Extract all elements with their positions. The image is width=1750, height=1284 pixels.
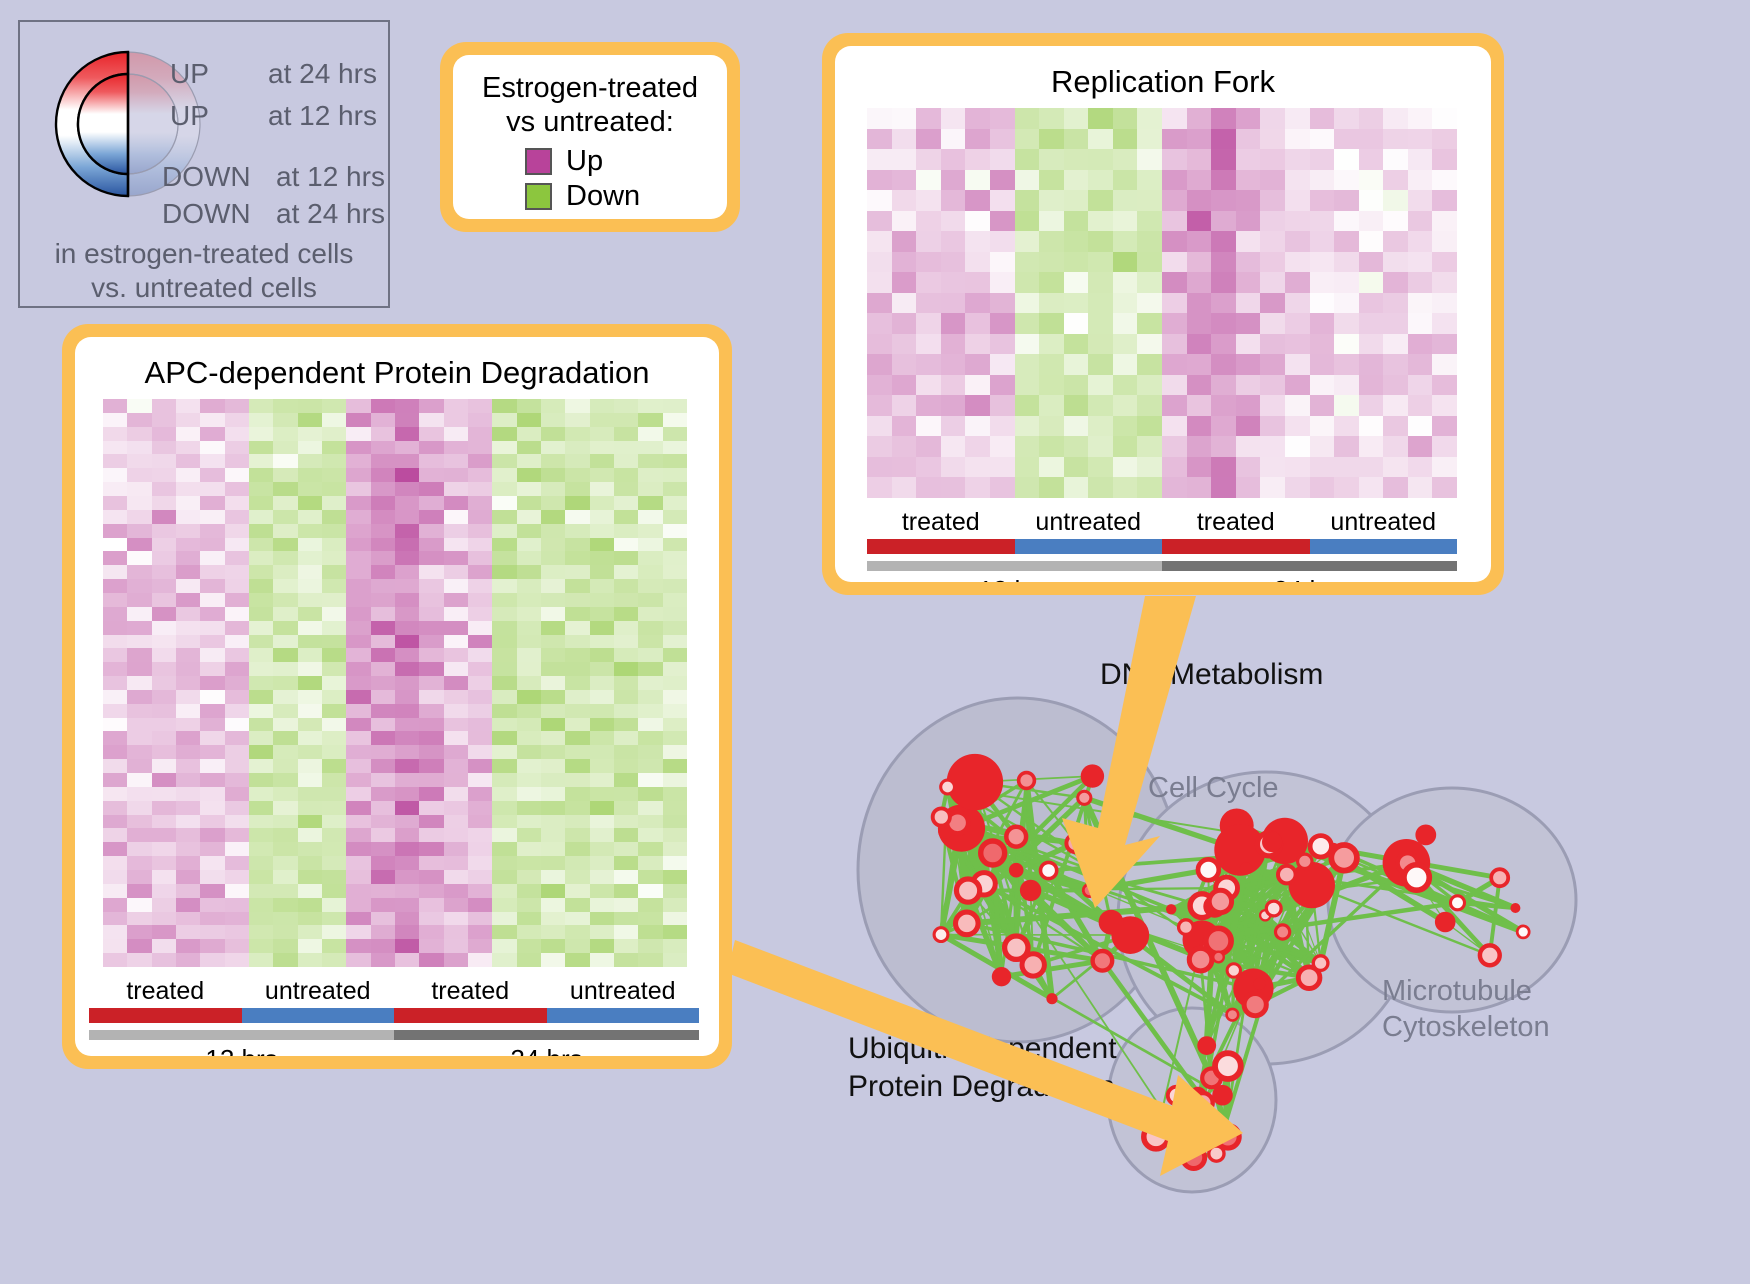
heatmap-cell — [249, 953, 273, 967]
heatmap-cell — [614, 482, 638, 496]
network-node[interactable] — [1083, 884, 1095, 896]
heatmap-cell — [395, 676, 419, 690]
heatmap-cell — [468, 815, 492, 829]
heatmap-cell — [127, 939, 151, 953]
heatmap-cell — [298, 454, 322, 468]
heatmap-cell — [541, 925, 565, 939]
heatmap-cell — [346, 441, 370, 455]
network-node[interactable] — [1198, 859, 1219, 880]
heatmap-cell — [1015, 129, 1040, 150]
network-node[interactable] — [992, 967, 1011, 986]
heatmap-cell — [176, 842, 200, 856]
network-node[interactable] — [1166, 904, 1176, 914]
heatmap-cell — [200, 441, 224, 455]
heatmap-cell — [225, 551, 249, 565]
heatmap-cell — [990, 416, 1015, 437]
heatmap-cell — [444, 801, 468, 815]
heatmap-cell — [590, 496, 614, 510]
heatmap-cell — [152, 427, 176, 441]
heatmap-cell — [1137, 457, 1162, 478]
heatmap-cell — [1088, 231, 1113, 252]
heatmap-cell — [517, 413, 541, 427]
heatmap-cell — [541, 856, 565, 870]
heatmap-cell — [517, 579, 541, 593]
heatmap-cell — [638, 759, 662, 773]
heatmap-cell — [990, 252, 1015, 273]
legend-row-2-time: at 12 hrs — [276, 161, 385, 193]
heatmap-cell — [517, 690, 541, 704]
heatmap-cell — [541, 773, 565, 787]
heatmap-cell — [468, 898, 492, 912]
heatmap-cell — [892, 457, 917, 478]
heatmap-cell — [663, 565, 687, 579]
network-node[interactable] — [1480, 945, 1500, 965]
heatmap-cell — [419, 787, 443, 801]
heatmap-cell — [225, 731, 249, 745]
heatmap-cell — [225, 953, 249, 967]
heatmap-cell — [663, 635, 687, 649]
heatmap-cell — [1432, 416, 1457, 437]
network-node[interactable] — [1081, 764, 1104, 787]
heatmap-cell — [1064, 252, 1089, 273]
heatmap-cell — [371, 427, 395, 441]
heatmap-cell — [565, 524, 589, 538]
heatmap-cell — [298, 759, 322, 773]
network-node[interactable] — [1168, 1087, 1186, 1105]
heatmap-cell — [492, 676, 516, 690]
heatmap-cell — [371, 662, 395, 676]
heatmap-cell — [1015, 416, 1040, 437]
heatmap-cell — [127, 690, 151, 704]
network-node[interactable] — [1093, 951, 1113, 971]
heatmap-cell — [1187, 190, 1212, 211]
heatmap-cell — [468, 593, 492, 607]
network-node[interactable] — [1179, 920, 1194, 935]
heatmap-cell — [322, 718, 346, 732]
network-node[interactable] — [1188, 1120, 1201, 1133]
heatmap-cell — [176, 413, 200, 427]
heatmap-cell — [322, 676, 346, 690]
heatmap-cell — [127, 704, 151, 718]
heatmap-cell — [371, 856, 395, 870]
heatmap-cell — [395, 524, 419, 538]
network-node[interactable] — [1404, 865, 1429, 890]
heatmap-cell — [517, 939, 541, 953]
heatmap-cell — [273, 510, 297, 524]
heatmap-cell — [590, 454, 614, 468]
heatmap-cell — [916, 293, 941, 314]
heatmap-cell — [298, 828, 322, 842]
heatmap-cell — [541, 704, 565, 718]
heatmap-cell — [1236, 108, 1261, 129]
heatmap-cell — [298, 718, 322, 732]
network-node[interactable] — [1144, 1125, 1168, 1149]
heatmap-cell — [395, 773, 419, 787]
heatmap-cell — [1088, 313, 1113, 334]
heatmap-cell — [225, 538, 249, 552]
network-node[interactable] — [1451, 896, 1465, 910]
heatmap-cell — [1088, 252, 1113, 273]
heatmap-cell — [127, 565, 151, 579]
heatmap-cell — [1211, 354, 1236, 375]
network-node[interactable] — [957, 879, 980, 902]
heatmap-cell — [541, 621, 565, 635]
heatmap-cell — [127, 842, 151, 856]
heatmap-cell — [346, 718, 370, 732]
heatmap-cell — [541, 579, 565, 593]
heatmap-cell — [1260, 477, 1285, 498]
network-node[interactable] — [934, 928, 948, 942]
heatmap-cell — [395, 718, 419, 732]
network-node[interactable] — [1019, 773, 1035, 789]
heatmap-cell — [322, 441, 346, 455]
heatmap-cell — [590, 579, 614, 593]
heatmap-cell — [1408, 436, 1433, 457]
heatmap-cell — [1359, 354, 1384, 375]
heatmap-cell — [590, 731, 614, 745]
network-node[interactable] — [1189, 948, 1212, 971]
heatmap-cell — [638, 884, 662, 898]
heatmap-cell — [298, 773, 322, 787]
heatmap-cell — [152, 759, 176, 773]
heatmap-cell — [225, 842, 249, 856]
heatmap-cell — [1162, 313, 1187, 334]
network-node[interactable] — [1213, 952, 1224, 963]
heatmap-cell — [1310, 313, 1335, 334]
heatmap-cell — [565, 939, 589, 953]
heatmap-cell — [200, 925, 224, 939]
heatmap-cell — [395, 441, 419, 455]
heatmap-cell — [249, 496, 273, 510]
heatmap-cell — [990, 149, 1015, 170]
heatmap-cell — [492, 648, 516, 662]
heatmap-cell — [565, 538, 589, 552]
heatmap-cell — [1285, 457, 1310, 478]
heatmap-cell — [1162, 129, 1187, 150]
condition-labels: treateduntreatedtreateduntreated — [867, 508, 1457, 537]
heatmap-cell — [225, 884, 249, 898]
heatmap-cell — [200, 953, 224, 967]
heatmap-cell — [892, 272, 917, 293]
heatmap-cell — [152, 787, 176, 801]
heatmap-cell — [200, 635, 224, 649]
heatmap-cell — [468, 510, 492, 524]
network-node[interactable] — [1078, 791, 1091, 804]
heatmap-cell — [298, 690, 322, 704]
heatmap-cell — [371, 912, 395, 926]
network-node[interactable] — [1212, 1085, 1233, 1106]
network-node[interactable] — [941, 780, 955, 794]
heatmap-cell — [346, 870, 370, 884]
heatmap-cell — [1432, 252, 1457, 273]
network-node[interactable] — [1227, 964, 1240, 977]
heatmap-cell — [663, 953, 687, 967]
heatmap-cell — [1236, 211, 1261, 232]
heatmap-cell — [468, 413, 492, 427]
heatmap-cell — [176, 787, 200, 801]
heatmap-cell — [249, 842, 273, 856]
heatmap-cell — [1236, 416, 1261, 437]
heatmap-cell — [1015, 354, 1040, 375]
heatmap-cell — [990, 108, 1015, 129]
heatmap-cell — [103, 925, 127, 939]
network-node[interactable] — [1310, 836, 1331, 857]
heatmap-cell — [419, 468, 443, 482]
network-node[interactable] — [1020, 880, 1041, 901]
network-node[interactable] — [1094, 867, 1106, 879]
heatmap-cell — [663, 912, 687, 926]
heatmap-cell — [152, 912, 176, 926]
heatmap-cell — [614, 496, 638, 510]
heatmap-cell — [127, 524, 151, 538]
heatmap-cell — [152, 815, 176, 829]
network-node[interactable] — [1099, 910, 1124, 935]
network-node[interactable] — [1209, 890, 1231, 912]
heatmap-cell — [663, 842, 687, 856]
network-node[interactable] — [1266, 901, 1281, 916]
network-node[interactable] — [1041, 862, 1057, 878]
network-node[interactable] — [1227, 1009, 1239, 1021]
heatmap-cell — [1162, 231, 1187, 252]
heatmap-cell — [1334, 108, 1359, 129]
heatmap-cell — [541, 690, 565, 704]
heatmap-cell — [663, 607, 687, 621]
heatmap-cell — [176, 635, 200, 649]
heatmap-cell — [517, 524, 541, 538]
heatmap-cell — [249, 427, 273, 441]
heatmap-cell — [941, 231, 966, 252]
network-node[interactable] — [1435, 912, 1456, 933]
network-node[interactable] — [1253, 978, 1265, 990]
heatmap-cell — [541, 635, 565, 649]
network-node[interactable] — [933, 808, 950, 825]
network-node[interactable] — [981, 841, 1005, 865]
heatmap-cell — [419, 635, 443, 649]
heatmap-cell — [565, 593, 589, 607]
network-node[interactable] — [1276, 925, 1290, 939]
heatmap-cell — [103, 745, 127, 759]
heatmap-cell — [298, 621, 322, 635]
heatmap-cell — [444, 690, 468, 704]
heatmap-cell — [371, 815, 395, 829]
heatmap-cell — [371, 898, 395, 912]
heatmap-cell — [590, 912, 614, 926]
heatmap-cell — [1162, 436, 1187, 457]
heatmap-cell — [225, 579, 249, 593]
heatmap-cell — [1359, 313, 1384, 334]
network-node[interactable] — [1046, 993, 1057, 1004]
heatmap-cell — [1334, 252, 1359, 273]
heatmap-cell — [103, 787, 127, 801]
condition-bar-segment — [547, 1008, 700, 1023]
heatmap-cell — [1064, 436, 1089, 457]
heatmap-cell — [492, 441, 516, 455]
heatmap-cell — [1039, 272, 1064, 293]
network-node[interactable] — [1197, 1036, 1216, 1055]
heatmap-cell — [468, 745, 492, 759]
heatmap-cell — [371, 759, 395, 773]
heatmap-cell — [322, 731, 346, 745]
network-node[interactable] — [1298, 854, 1312, 868]
heatmap-cell — [103, 427, 127, 441]
network-node[interactable] — [1009, 863, 1024, 878]
heatmap-cell — [965, 313, 990, 334]
network-node[interactable] — [1240, 862, 1252, 874]
heatmap-cell — [298, 884, 322, 898]
heatmap-cell — [638, 842, 662, 856]
heatmap-cell — [990, 354, 1015, 375]
heatmap-cell — [444, 912, 468, 926]
heatmap-cell — [419, 773, 443, 787]
network-node[interactable] — [1278, 866, 1296, 884]
heatmap-cell — [638, 524, 662, 538]
heatmap-cell — [103, 856, 127, 870]
apc-degradation-title: APC-dependent Protein Degradation — [75, 355, 719, 391]
heatmap-cell — [273, 704, 297, 718]
heatmap-cell — [965, 477, 990, 498]
heatmap-cell — [322, 925, 346, 939]
heatmap-cell — [1211, 477, 1236, 498]
heatmap-cell — [371, 953, 395, 967]
heatmap-cell — [492, 427, 516, 441]
heatmap-cell — [103, 704, 127, 718]
heatmap-cell — [1310, 334, 1335, 355]
heatmap-cell — [176, 454, 200, 468]
heatmap-cell — [1113, 334, 1138, 355]
heatmap-cell — [1334, 231, 1359, 252]
heatmap-cell — [1064, 457, 1089, 478]
heatmap-cell — [590, 662, 614, 676]
network-node[interactable] — [1491, 869, 1508, 886]
heatmap-cell — [1236, 190, 1261, 211]
heatmap-cell — [127, 413, 151, 427]
network-node[interactable] — [1313, 956, 1328, 971]
heatmap-cell — [965, 190, 990, 211]
heatmap-cell — [565, 648, 589, 662]
heatmap-cell — [590, 399, 614, 413]
heatmap-cell — [176, 815, 200, 829]
heatmap-cell — [127, 607, 151, 621]
network-node[interactable] — [1244, 994, 1266, 1016]
heatmap-cell — [322, 413, 346, 427]
heatmap-cell — [298, 648, 322, 662]
network-node[interactable] — [1331, 845, 1357, 871]
heatmap-cell — [273, 413, 297, 427]
heatmap-cell — [517, 635, 541, 649]
heatmap-cell — [395, 538, 419, 552]
heatmap-cell — [614, 815, 638, 829]
heatmap-cell — [273, 593, 297, 607]
heatmap-cell — [322, 427, 346, 441]
heatmap-cell — [371, 621, 395, 635]
heatmap-cell — [273, 621, 297, 635]
network-node[interactable] — [1510, 903, 1520, 913]
heatmap-cell — [565, 787, 589, 801]
heatmap-cell — [990, 457, 1015, 478]
heatmap-cell — [1064, 190, 1089, 211]
heatmap-cell — [1113, 252, 1138, 273]
heatmap-cell — [892, 211, 917, 232]
network-node[interactable] — [1215, 1053, 1241, 1079]
heatmap-cell — [638, 635, 662, 649]
heatmap-cell — [1408, 211, 1433, 232]
heatmap-cell — [965, 395, 990, 416]
heatmap-cell — [444, 787, 468, 801]
heatmap-cell — [444, 870, 468, 884]
heatmap-cell — [663, 538, 687, 552]
network-node[interactable] — [1006, 827, 1026, 847]
network-node[interactable] — [947, 754, 1003, 810]
network-node[interactable] — [956, 912, 979, 935]
heatmap-cell — [103, 496, 127, 510]
heatmap-cell — [127, 718, 151, 732]
heatmap-cell — [273, 842, 297, 856]
heatmap-cell — [152, 828, 176, 842]
heatmap-cell — [1187, 252, 1212, 273]
heatmap-cell — [1260, 354, 1285, 375]
heatmap-cell — [663, 718, 687, 732]
heatmap-cell — [322, 551, 346, 565]
heatmap-cell — [638, 925, 662, 939]
heatmap-cell — [176, 551, 200, 565]
heatmap-cell — [176, 745, 200, 759]
heatmap-cell — [444, 856, 468, 870]
heatmap-cell — [1113, 231, 1138, 252]
heatmap-cell — [1432, 457, 1457, 478]
network-node[interactable] — [1415, 825, 1436, 846]
heatmap-cell — [892, 252, 917, 273]
heatmap-cell — [395, 953, 419, 967]
heatmap-cell — [1260, 457, 1285, 478]
heatmap-cell — [1137, 293, 1162, 314]
heatmap-cell — [225, 815, 249, 829]
heatmap-cell — [541, 551, 565, 565]
heatmap-cell — [867, 334, 892, 355]
heatmap-cell — [298, 801, 322, 815]
replication-fork-heatmap — [867, 108, 1457, 498]
heatmap-cell — [1260, 129, 1285, 150]
heatmap-cell — [419, 621, 443, 635]
heatmap-cell — [176, 648, 200, 662]
network-node[interactable] — [1217, 1126, 1240, 1149]
heatmap-cell — [638, 939, 662, 953]
network-node[interactable] — [1262, 832, 1282, 852]
heatmap-cell — [273, 648, 297, 662]
heatmap-cell — [492, 607, 516, 621]
heatmap-cell — [371, 454, 395, 468]
heatmap-cell — [444, 648, 468, 662]
heatmap-cell — [1211, 231, 1236, 252]
heatmap-cell — [892, 416, 917, 437]
heatmap-cell — [638, 468, 662, 482]
network-node[interactable] — [1183, 1147, 1205, 1169]
heatmap-cell — [346, 676, 370, 690]
heatmap-cell — [1260, 436, 1285, 457]
network-node[interactable] — [1066, 834, 1084, 852]
heatmap-cell — [1310, 272, 1335, 293]
heatmap-cell — [1432, 477, 1457, 498]
heatmap-cell — [614, 427, 638, 441]
network-node[interactable] — [1517, 926, 1529, 938]
heatmap-cell — [1334, 416, 1359, 437]
heatmap-cell — [273, 953, 297, 967]
heatmap-cell — [346, 427, 370, 441]
heatmap-cell — [395, 551, 419, 565]
heatmap-cell — [298, 607, 322, 621]
heatmap-cell — [346, 621, 370, 635]
network-node[interactable] — [1022, 954, 1044, 976]
heatmap-cell — [419, 427, 443, 441]
